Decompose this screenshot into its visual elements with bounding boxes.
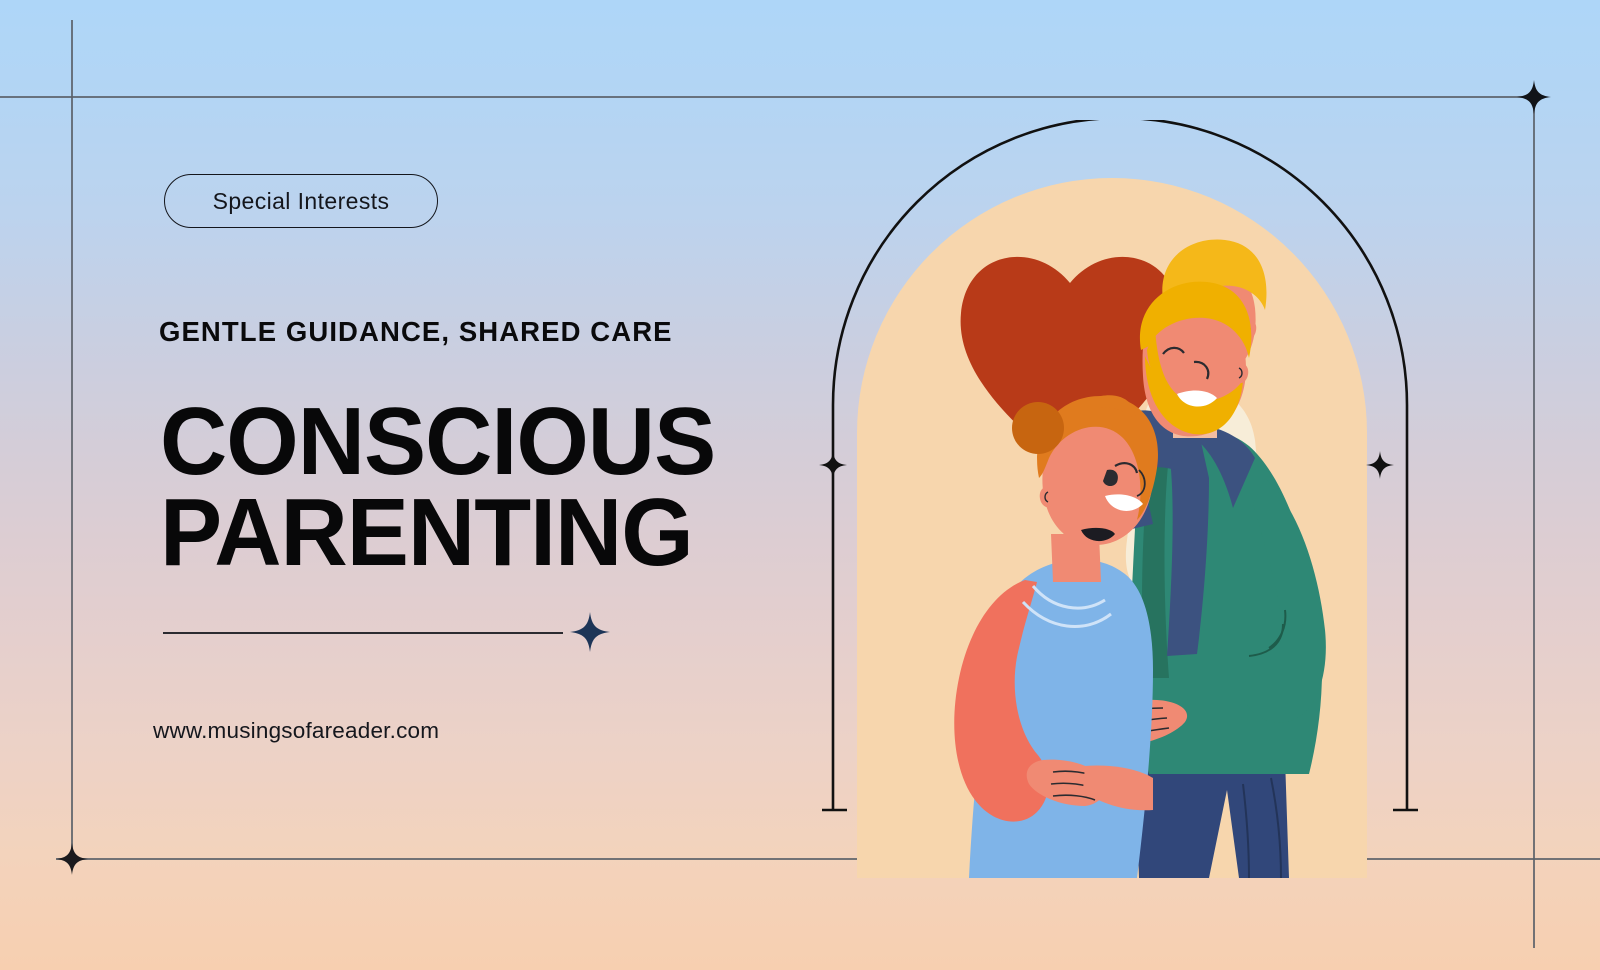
illustration-arch: [800, 120, 1440, 840]
content-column: Special Interests GENTLE GUIDANCE, SHARE…: [0, 0, 760, 970]
eyebrow-text: GENTLE GUIDANCE, SHARED CARE: [159, 316, 673, 348]
frame-line-right-vertical: [1533, 96, 1535, 948]
category-badge-label: Special Interests: [213, 188, 390, 215]
divider-sparkle: [568, 610, 612, 654]
page-title: CONSCIOUS PARENTING: [160, 396, 715, 578]
divider-rule: [163, 632, 563, 634]
family-illustration: [857, 178, 1367, 878]
category-badge[interactable]: Special Interests: [164, 174, 438, 228]
site-url[interactable]: www.musingsofareader.com: [153, 718, 439, 744]
